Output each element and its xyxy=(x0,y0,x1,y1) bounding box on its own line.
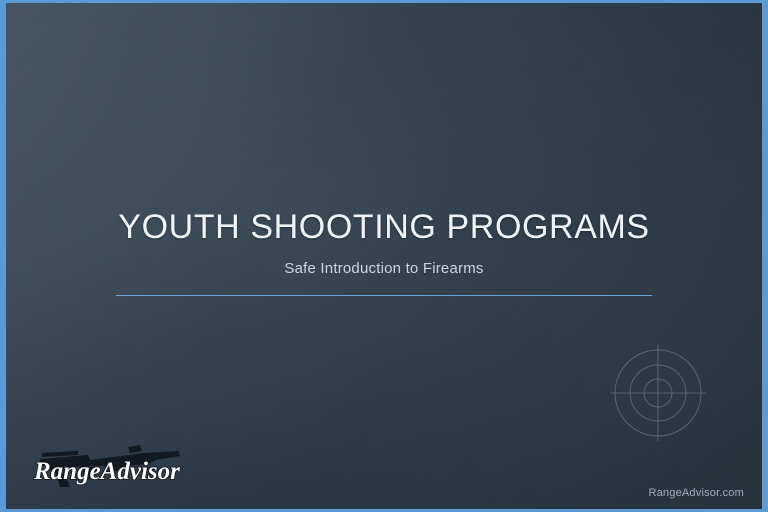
page-title: YOUTH SHOOTING PROGRAMS xyxy=(6,209,762,246)
logo-wordmark: RangeAdvisor xyxy=(33,458,180,485)
page-subtitle: Safe Introduction to Firearms xyxy=(6,260,762,277)
logo-text: RangeAdvisor xyxy=(33,458,180,485)
rangeadvisor-logo: RangeAdvisor xyxy=(28,429,198,495)
footer-website: RangeAdvisor.com xyxy=(648,487,744,499)
title-divider xyxy=(116,295,652,296)
crosshair-target-icon xyxy=(610,345,706,441)
title-block: YOUTH SHOOTING PROGRAMS Safe Introductio… xyxy=(6,209,762,296)
presentation-slide: YOUTH SHOOTING PROGRAMS Safe Introductio… xyxy=(0,0,768,512)
